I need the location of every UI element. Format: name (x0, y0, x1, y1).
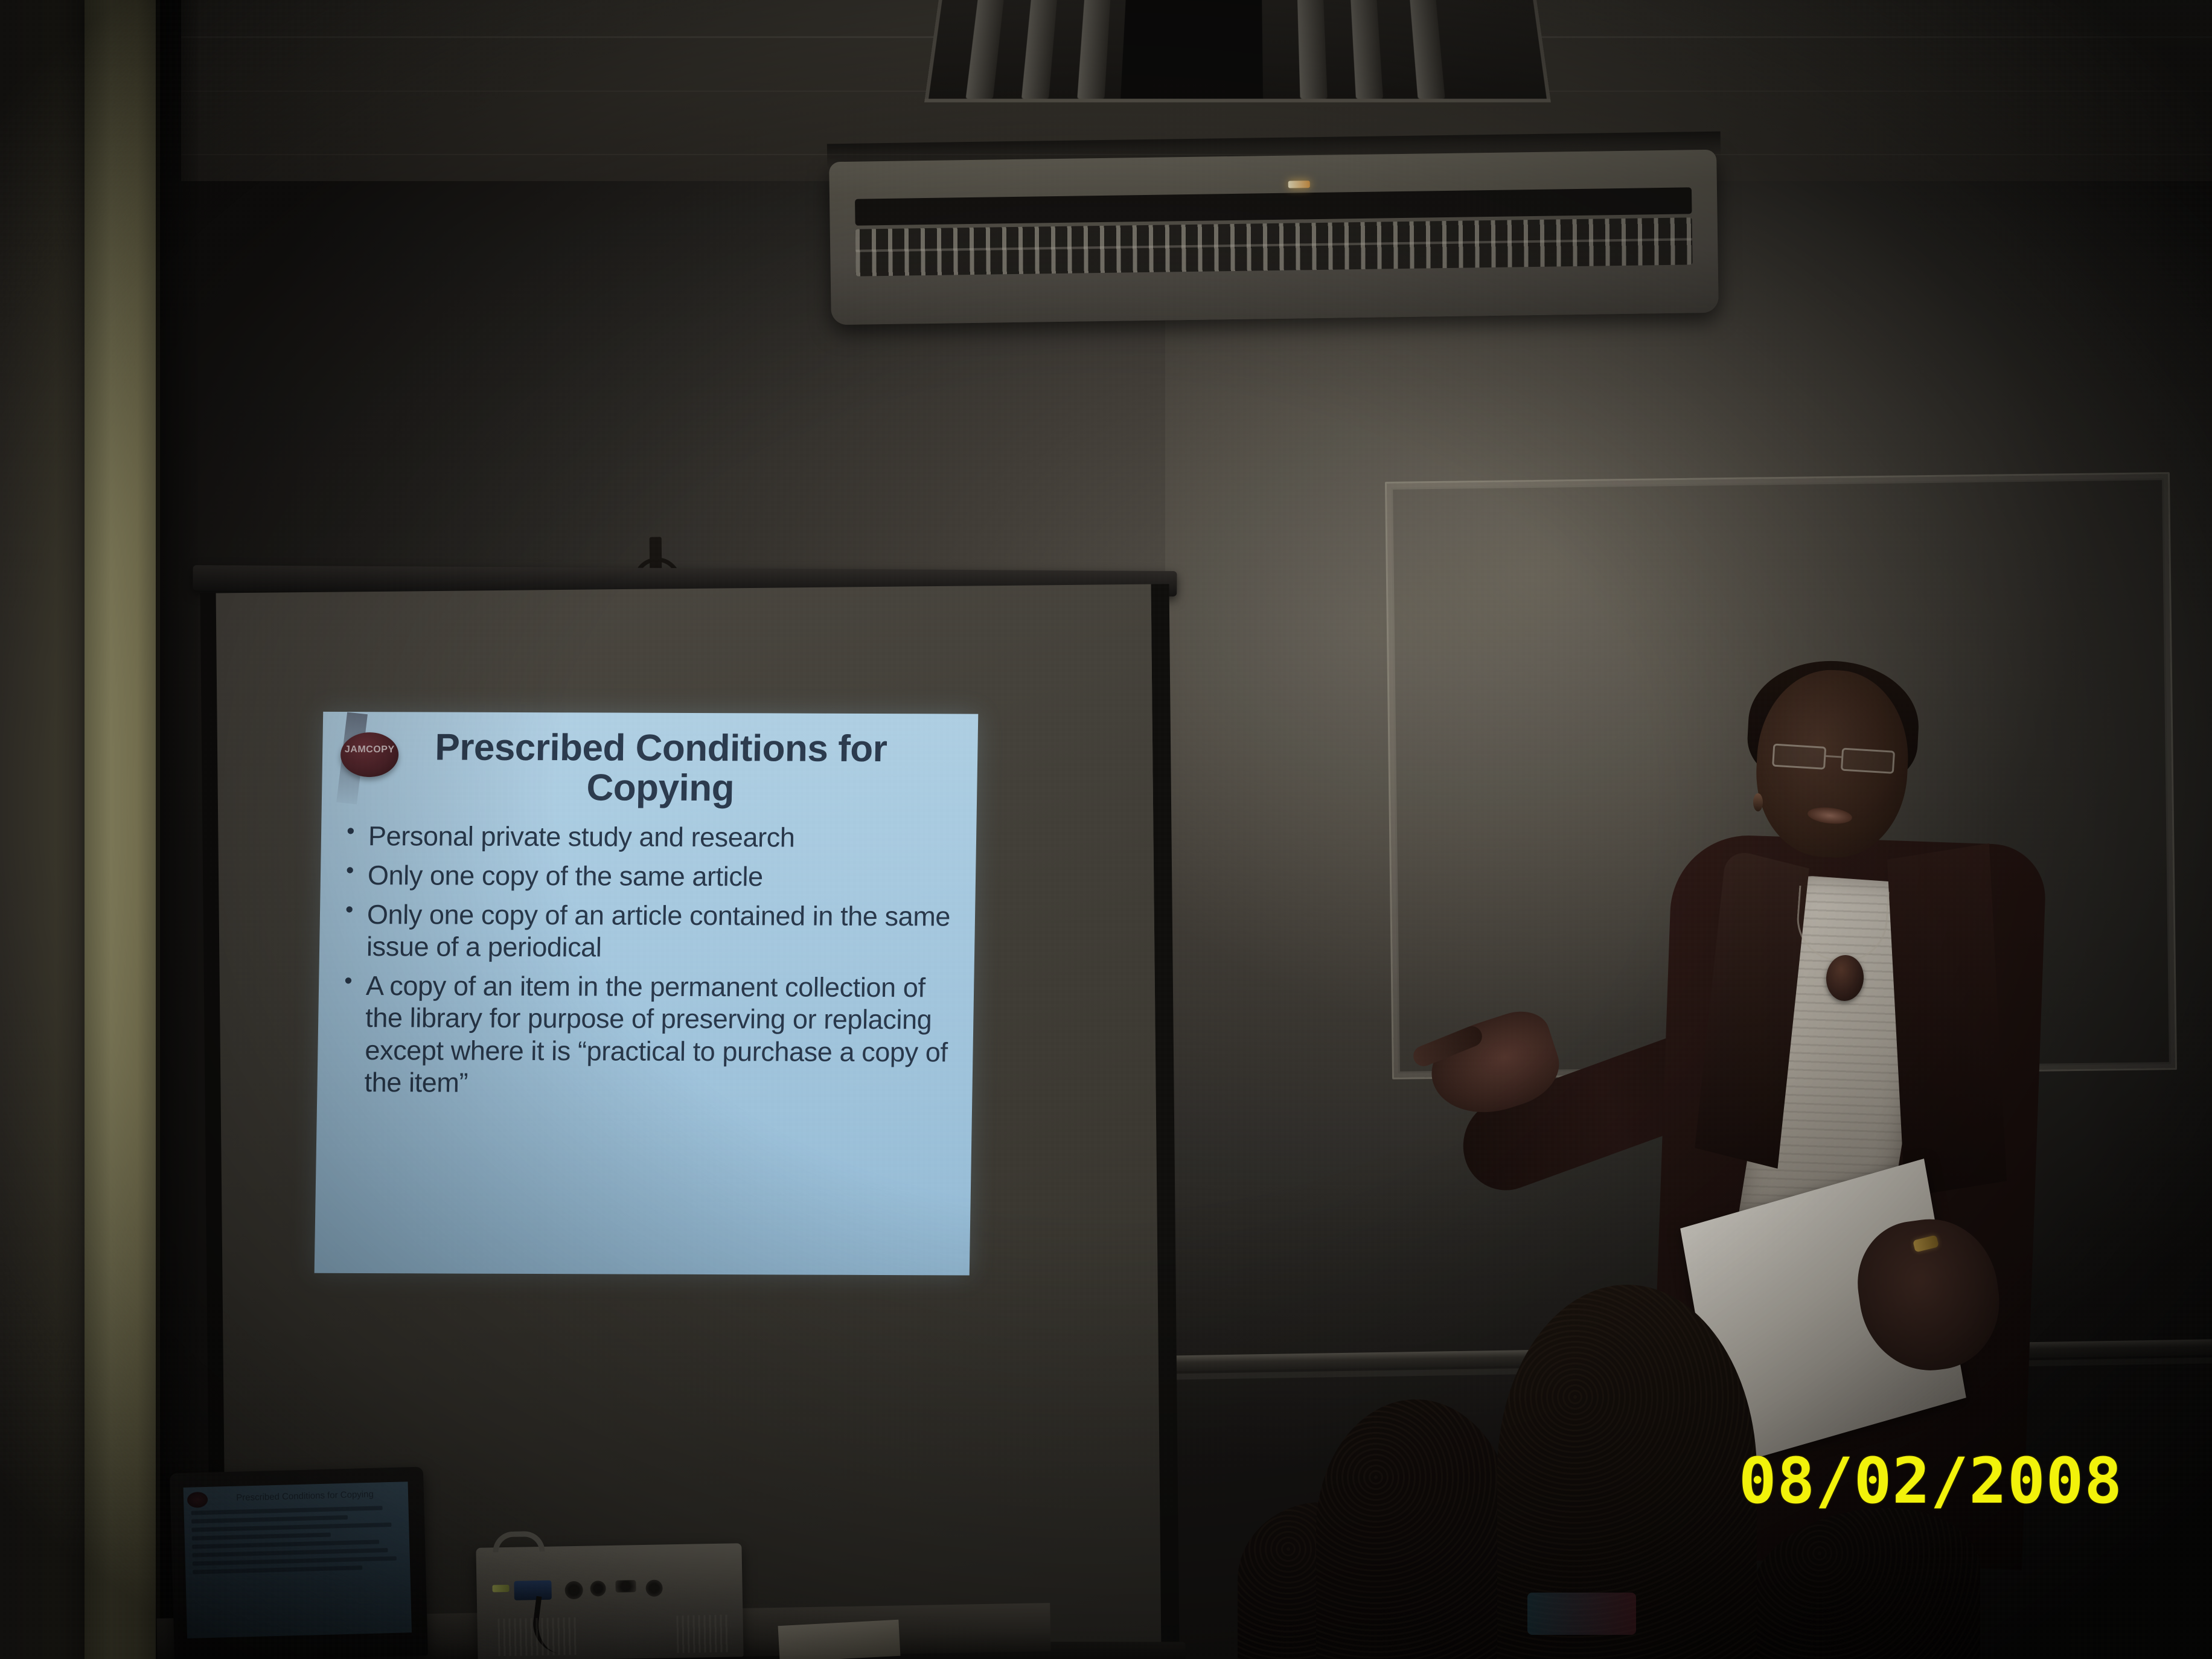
audience-collar (1527, 1593, 1636, 1635)
projected-slide: JAMCOPY Prescribed Conditions for Copyin… (315, 712, 979, 1276)
projector-led (492, 1585, 509, 1592)
ceiling-pipe (1297, 0, 1328, 99)
ceiling-pipe (966, 0, 1005, 99)
jamcopy-logo-icon: JAMCOPY (335, 726, 402, 782)
laptop-slide-body (191, 1505, 411, 1574)
presenter-earring (1753, 793, 1763, 811)
air-conditioner-unit (829, 150, 1719, 325)
presenter-blazer-lapel-right (1887, 843, 2007, 1197)
laptop-slide-title: Prescribed Conditions for Copying (205, 1489, 404, 1504)
ac-louver-grille (855, 217, 1693, 276)
slide-bullet: Only one copy of an article contained in… (341, 898, 955, 965)
left-wall (0, 0, 94, 1659)
ceiling-cavity (1120, 0, 1263, 99)
presentation-photo: JAMCOPY Prescribed Conditions for Copyin… (0, 0, 2212, 1659)
projector-vent (676, 1615, 731, 1654)
projector-audio-port (645, 1579, 662, 1596)
projector-port-panel (490, 1578, 689, 1602)
slide-bullet: Personal private study and research (343, 820, 956, 854)
logo-wordmark: JAMCOPY (344, 744, 395, 755)
glasses-lens-right (1841, 748, 1895, 774)
projector-svideo-port (564, 1581, 583, 1600)
slide-bullet: Only one copy of the same article (342, 859, 956, 893)
audience-head (1316, 1399, 1515, 1659)
ceiling-access-hatch (924, 0, 1551, 103)
laptop[interactable]: Prescribed Conditions for Copying (170, 1467, 428, 1659)
ceiling-pipe (1350, 0, 1383, 99)
ac-status-led (1288, 181, 1310, 188)
ceiling-pipe (1409, 0, 1445, 99)
laptop-screen: Prescribed Conditions for Copying (184, 1482, 412, 1638)
ceiling-pipe (1077, 0, 1111, 99)
slide-bullet: A copy of an item in the permanent colle… (339, 970, 953, 1101)
projector-rca-port (590, 1581, 606, 1596)
slide-bullet-list: Personal private study and research Only… (339, 820, 956, 1101)
slide-title: Prescribed Conditions for Copying (364, 727, 957, 809)
date-stamp: 08/02/2008 (1739, 1444, 2123, 1518)
glasses-lens-left (1772, 744, 1826, 770)
projector-usb-port (615, 1580, 636, 1593)
glasses-bridge (1826, 755, 1841, 758)
column-shadow (156, 0, 198, 1659)
wall-column (85, 0, 160, 1659)
projector-vent (497, 1617, 577, 1656)
paper-stack (778, 1620, 901, 1659)
ceiling-pipe (1021, 0, 1058, 99)
video-projector[interactable] (476, 1543, 743, 1659)
